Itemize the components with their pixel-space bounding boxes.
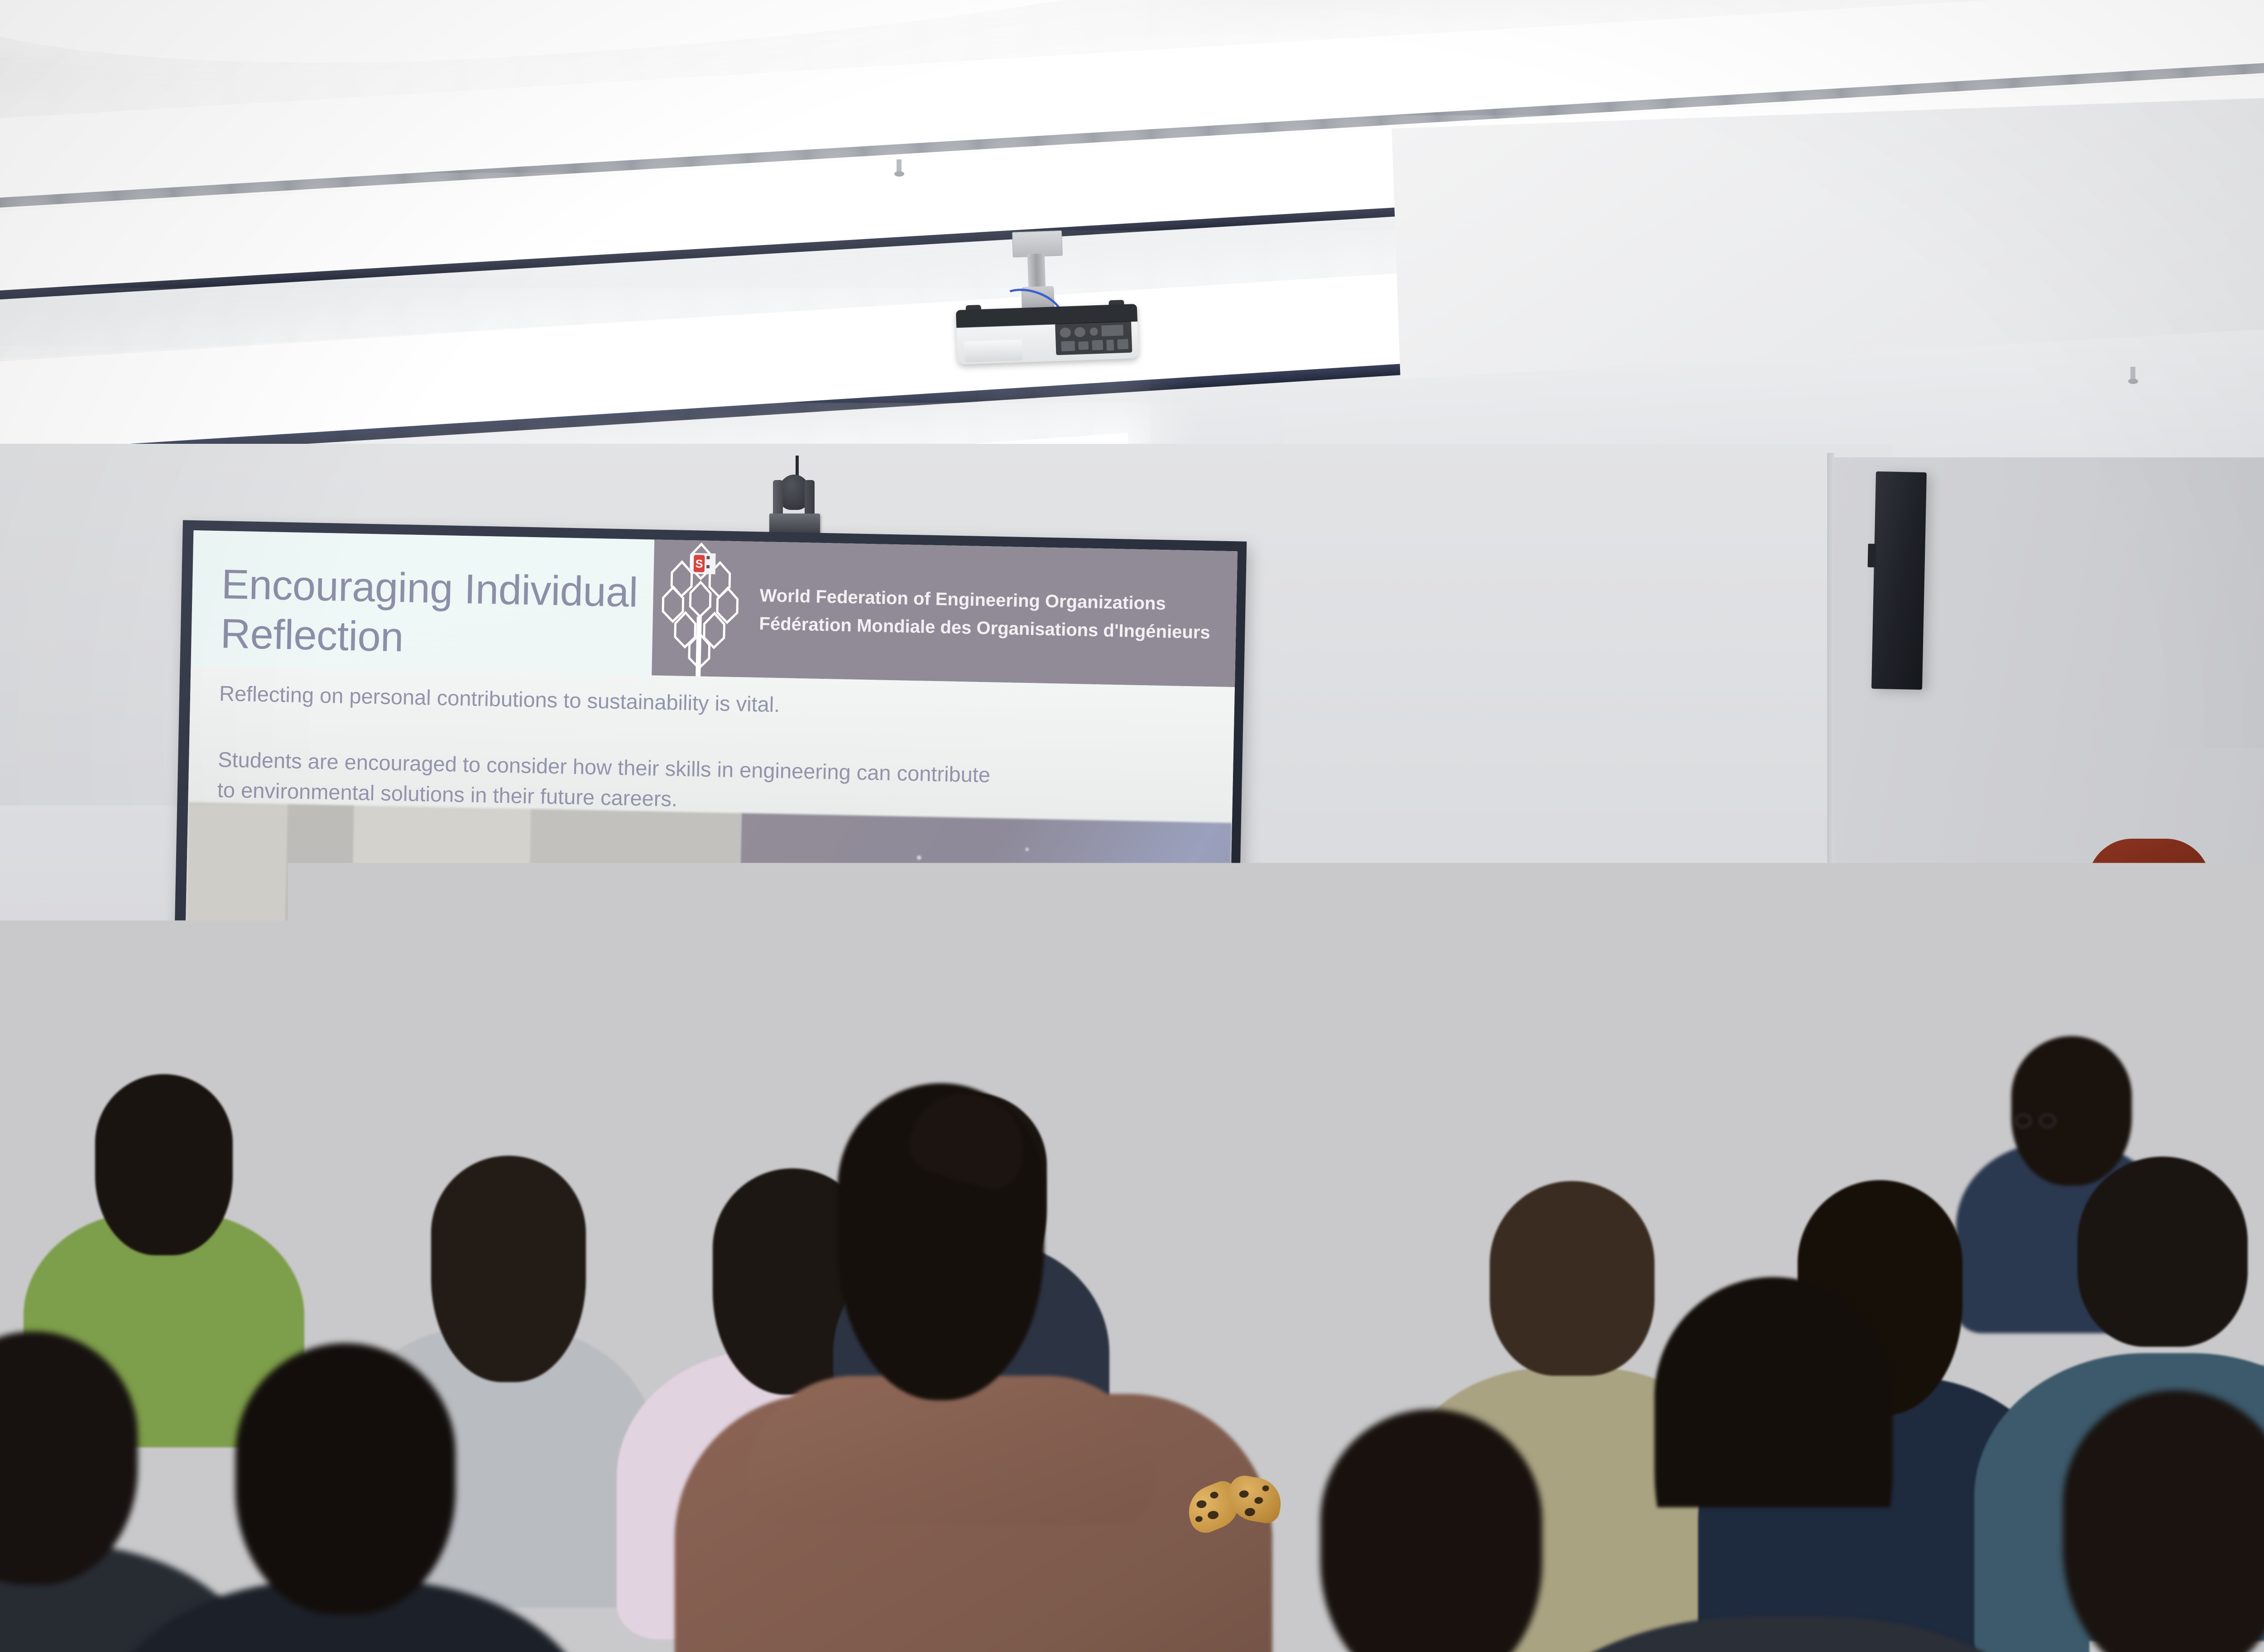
slide-title-line-1: Encouraging Individual [221,560,720,619]
slide-title-line-2: Reflection [220,609,719,668]
sticker-line-2: The One [1329,1015,1427,1027]
projector-lens [964,340,1023,362]
bottle-cap [1427,1200,1444,1211]
water-bottle [1421,1210,1449,1291]
presentation-slide: Encouraging Individual Reflection [182,530,1238,1146]
slide-photo-engineers [182,802,741,1136]
speaker-bracket [1868,544,1876,567]
wfeo-logo-text: World Federation of Engineering Organiza… [759,581,1211,647]
ptz-camera [763,466,822,539]
ceiling-projector [926,227,1166,366]
wfeo-tree-logo-icon: S [652,539,761,677]
slide-photo-row [182,802,1232,1146]
projection-screen: Encouraging Individual Reflection [182,530,1238,1146]
slide-body: Reflecting on personal contributions to … [188,666,1235,823]
projector-ceiling-plate [1012,231,1063,258]
leopard-print-scrunchie [1185,1475,1281,1542]
brain-graphic [1052,968,1096,1008]
sticker-line-1: "I Am [1329,982,1427,994]
svg-text:S: S [696,557,703,570]
atom-icon [1140,937,1200,998]
projector-port-panel [1055,321,1132,355]
network-nodes-icon [1138,1041,1194,1096]
microphone-led-icon [1298,961,1301,965]
column-wall-speaker [1871,471,1927,690]
slide-body-line-1: Reflecting on personal contributions to … [219,678,780,720]
dell-logo-icon: DELL [1368,995,1387,1014]
eyeglasses [2015,1114,2056,1129]
classroom-desk [1010,1232,1408,1254]
presenter-teeth [2131,942,2159,949]
head-silhouette-icon [967,960,1027,1050]
projection-screen-frame: Encouraging Individual Reflection [171,520,1247,1157]
desk-edge [1010,1253,1408,1258]
eyeglasses [1139,1223,1171,1234]
presenter-nose [2138,914,2150,933]
wfeo-logo-band: S World Federation of Engineering Organi… [652,539,1238,687]
slide-header: Encouraging Individual Reflection [191,530,1238,687]
slide-title: Encouraging Individual Reflection [220,560,720,668]
sprinkler-head-icon [894,159,904,180]
sprinkler-head-icon [2128,367,2138,388]
desk-leg [1367,1257,1374,1325]
lecture-hall-photo: Encouraging Individual Reflection [0,0,2264,1652]
